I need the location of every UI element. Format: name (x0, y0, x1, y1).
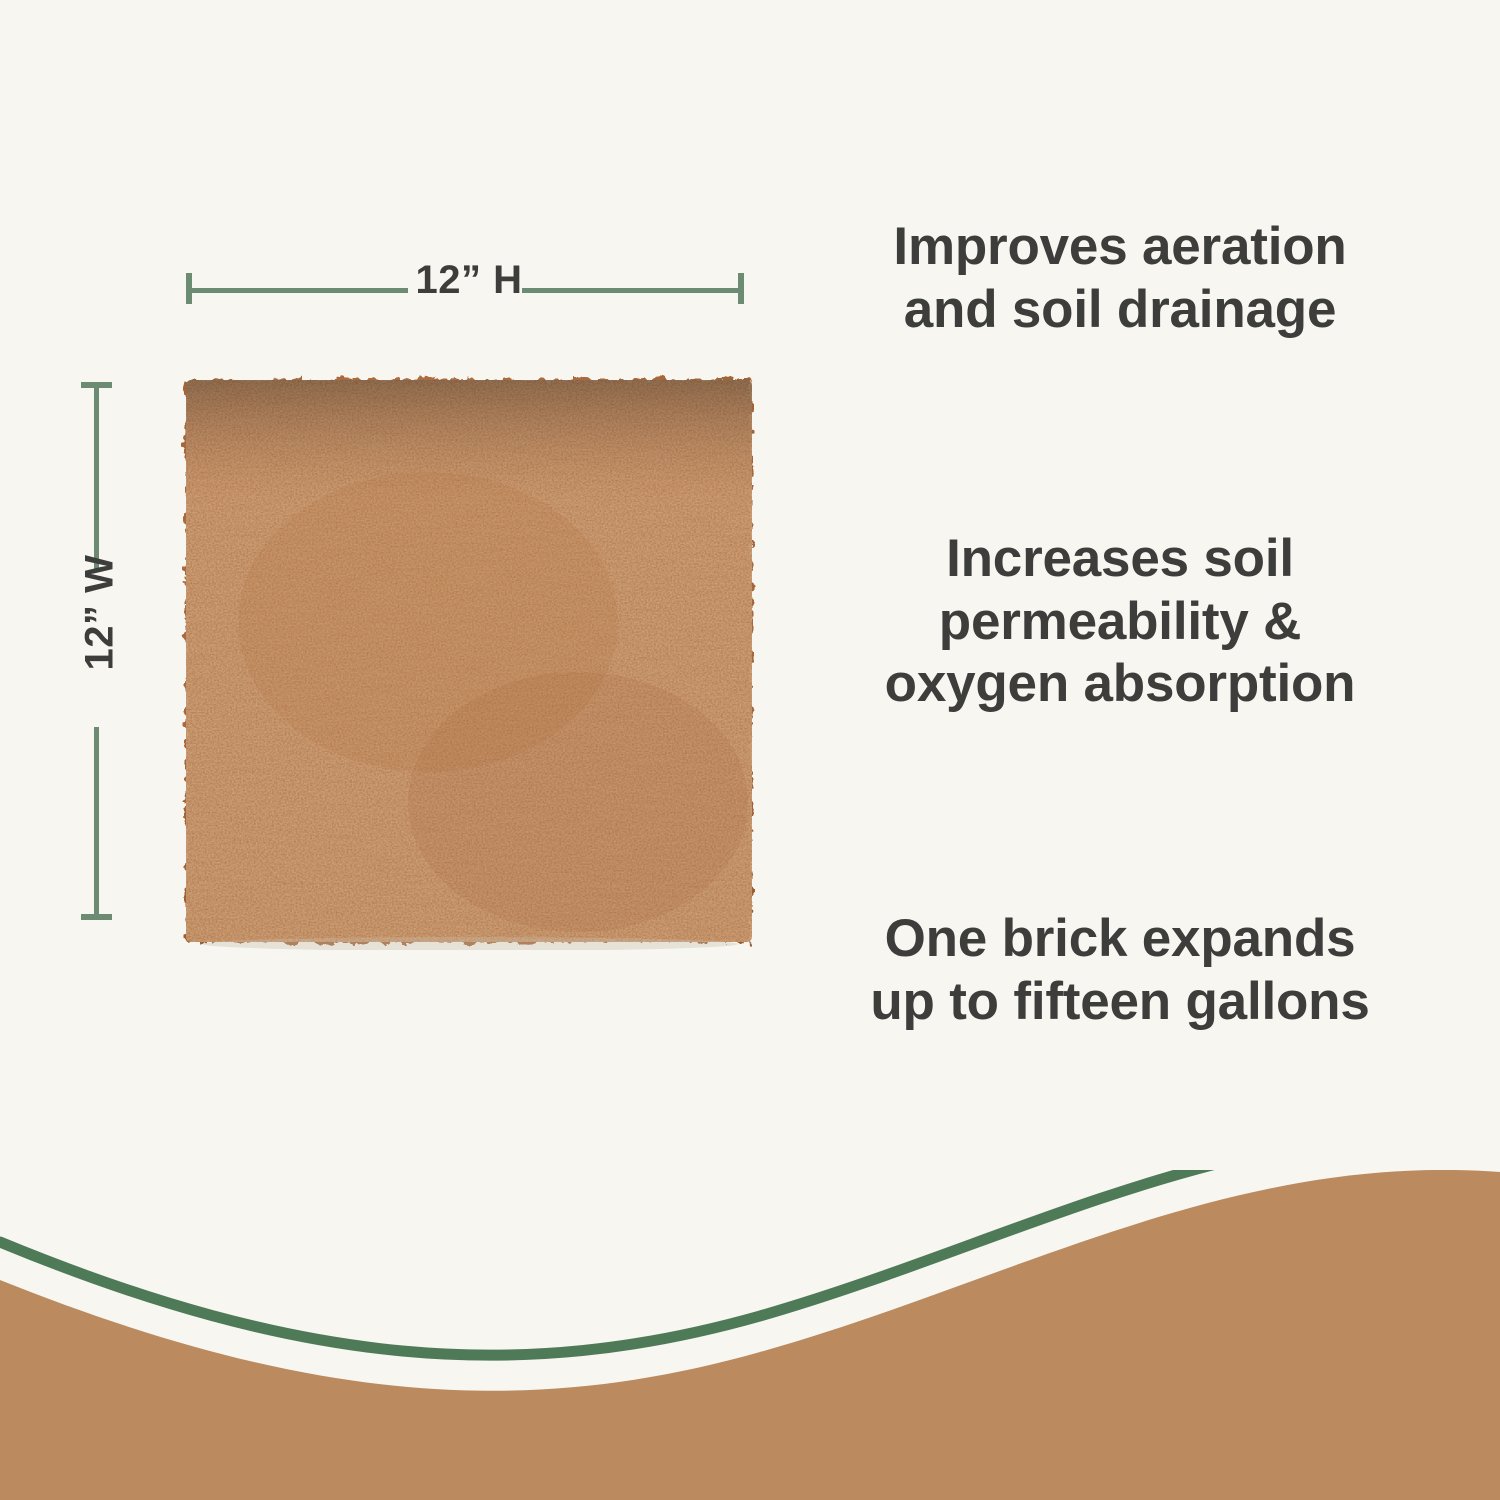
bottom-wave-divider (0, 1170, 1500, 1500)
dimension-rule-bottom (94, 727, 99, 920)
horizontal-dimension-label: 12” H (404, 258, 534, 303)
dimension-cap-left-icon (186, 273, 192, 304)
benefit-aeration: Improves aeration and soil drainage (800, 216, 1440, 341)
dimension-rule-top (94, 382, 99, 572)
dimension-cap-bottom-icon (81, 914, 112, 920)
benefit-line: permeability & (800, 591, 1440, 654)
benefit-line: Improves aeration (800, 216, 1440, 279)
benefit-line: up to fifteen gallons (800, 971, 1440, 1034)
wave-graphic (0, 1170, 1500, 1500)
coir-brick-illustration (178, 372, 762, 950)
benefit-line: oxygen absorption (800, 653, 1440, 716)
dimension-rule-right (522, 288, 744, 293)
benefit-line: Increases soil (800, 528, 1440, 591)
benefit-permeability: Increases soil permeability & oxygen abs… (800, 528, 1440, 716)
coir-brick-image (178, 372, 762, 950)
dimension-cap-right-icon (738, 273, 744, 304)
vertical-dimension-label: 12” W (78, 553, 123, 673)
benefit-line: and soil drainage (800, 279, 1440, 342)
infographic-canvas: 12” H 12” W (0, 0, 1500, 1500)
wave-tan-shape (0, 1170, 1500, 1500)
benefit-expansion: One brick expands up to fifteen gallons (800, 908, 1440, 1033)
dimension-rule-left (186, 288, 408, 293)
dimension-cap-top-icon (81, 382, 112, 388)
benefit-line: One brick expands (800, 908, 1440, 971)
